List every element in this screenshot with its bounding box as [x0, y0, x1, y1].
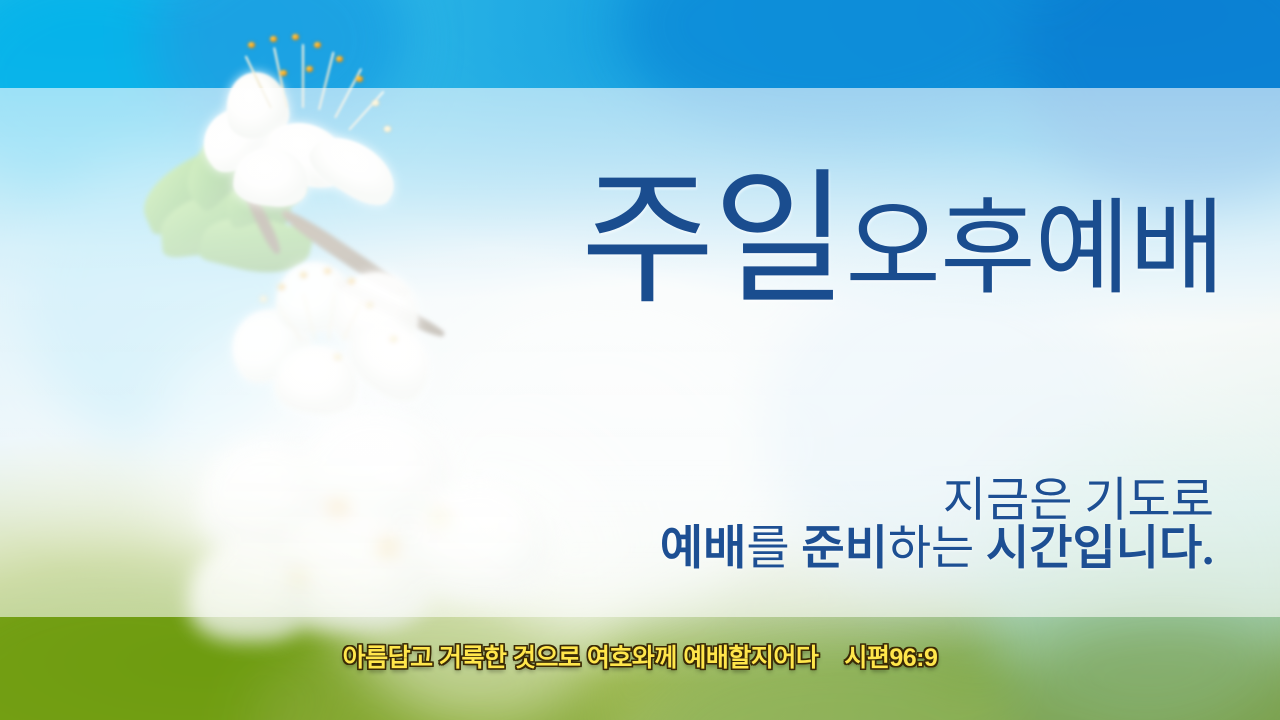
subtitle-line2-part-c: 준비	[801, 523, 887, 575]
title-main: 주일	[581, 160, 846, 322]
subtitle-line1-text: 지금은 기도로	[943, 475, 1214, 527]
verse-text: 아름답고 거룩한 것으로 여호와께 예배할지어다	[343, 644, 819, 672]
worship-slide: 주일오후예배 지금은 기도로 예배를 준비하는 시간입니다. 아름답고 거룩한 …	[0, 0, 1280, 720]
title-sub: 오후예배	[845, 192, 1224, 307]
verse-reference: 시편96:9	[844, 644, 937, 672]
subtitle-line2-part-b: 를	[746, 523, 801, 575]
subtitle: 지금은 기도로 예배를 준비하는 시간입니다.	[0, 478, 1214, 574]
page-title: 주일오후예배	[0, 168, 1224, 314]
subtitle-line-2: 예배를 준비하는 시간입니다.	[0, 526, 1214, 574]
scripture-verse: 아름답고 거룩한 것으로 여호와께 예배할지어다시편96:9	[0, 638, 1280, 674]
subtitle-line2-part-e: 시간입니다.	[986, 523, 1214, 575]
subtitle-line2-part-d: 하는	[888, 523, 986, 575]
subtitle-line-1: 지금은 기도로	[0, 478, 1214, 526]
subtitle-line2-part-a: 예배	[660, 523, 746, 575]
